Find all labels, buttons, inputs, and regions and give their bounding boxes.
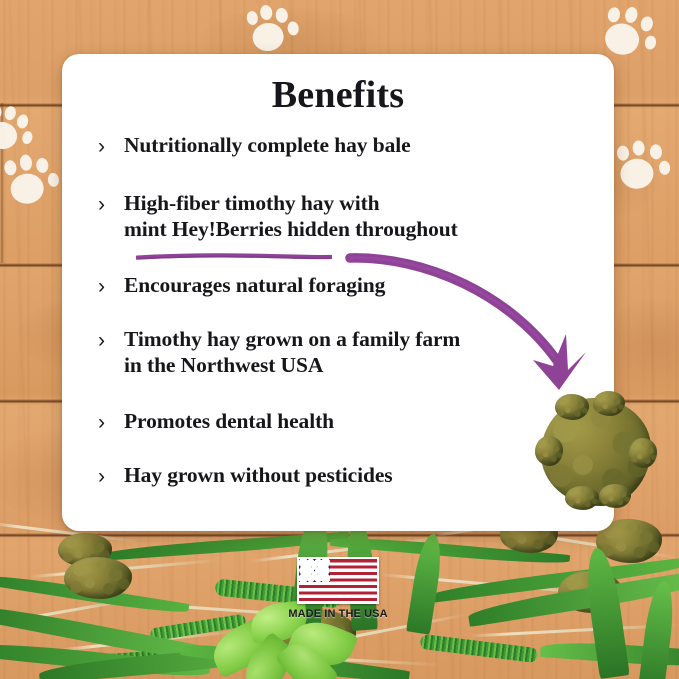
- paw-toe: [644, 35, 658, 51]
- timothy-seed-head: [420, 634, 539, 663]
- paw-toe: [607, 6, 622, 23]
- paw-toe: [624, 6, 639, 24]
- hay-treat-nugget: [593, 391, 625, 416]
- paw-pad: [9, 172, 45, 205]
- paw-toe: [0, 105, 3, 121]
- chevron-right-icon: ›: [98, 408, 124, 436]
- chevron-right-icon: ›: [98, 132, 124, 160]
- paw-toe: [246, 10, 259, 25]
- flag-stars: [299, 559, 330, 582]
- list-item: › Nutritionally complete hay bale: [98, 132, 411, 160]
- list-item-label: Promotes dental health: [124, 408, 334, 434]
- paw-toe: [649, 144, 662, 160]
- paw-toe: [616, 145, 629, 161]
- made-in-usa-badge: MADE IN THE USA: [288, 557, 388, 620]
- paw-toe: [275, 7, 289, 24]
- hay-treat-ball: [541, 398, 651, 506]
- list-item: › High-fiber timothy hay with mint Hey!B…: [98, 190, 458, 242]
- paw-print-icon: [243, 2, 308, 62]
- paw-print-icon: [1, 152, 64, 212]
- paw-toe: [21, 130, 34, 145]
- usa-flag-icon: [297, 557, 379, 604]
- list-item: › Promotes dental health: [98, 408, 334, 436]
- paw-toe: [36, 157, 50, 173]
- hay-treat-ball: [64, 557, 132, 599]
- hay-treat-nugget: [565, 486, 599, 510]
- list-item-label: Hay grown without pesticides: [124, 462, 393, 488]
- paw-toe: [16, 113, 30, 129]
- list-item-label: Nutritionally complete hay bale: [124, 132, 411, 158]
- flag-canton: [299, 559, 330, 582]
- paw-toe: [639, 15, 654, 32]
- hay-treat-nugget: [629, 438, 657, 468]
- paw-pad: [602, 20, 642, 57]
- chevron-right-icon: ›: [98, 190, 124, 218]
- list-item: › Hay grown without pesticides: [98, 462, 393, 490]
- paw-pad: [619, 158, 654, 190]
- paw-toe: [632, 140, 645, 156]
- paw-print-icon: [616, 138, 678, 196]
- chevron-right-icon: ›: [98, 462, 124, 490]
- paw-toe: [19, 154, 33, 171]
- paw-toe: [259, 4, 273, 21]
- paw-toe: [287, 21, 300, 36]
- paw-toe: [4, 160, 18, 176]
- paw-toe: [47, 172, 59, 187]
- hay-treat-nugget: [599, 484, 631, 508]
- paw-pad: [251, 21, 286, 53]
- list-item-label: High-fiber timothy hay with mint Hey!Ber…: [124, 190, 458, 242]
- made-in-usa-label: MADE IN THE USA: [288, 608, 388, 620]
- hay-treat-nugget: [535, 436, 563, 466]
- curved-arrow-icon: [330, 238, 620, 403]
- infographic-canvas: Benefits › Nutritionally complete hay ba…: [0, 0, 679, 679]
- page-title: Benefits: [62, 73, 614, 117]
- paw-toe: [659, 160, 671, 175]
- chevron-right-icon: ›: [98, 272, 124, 300]
- hay-treat-nugget: [555, 394, 589, 420]
- purple-underline-icon: [136, 253, 332, 260]
- chevron-right-icon: ›: [98, 326, 124, 354]
- paw-toe: [3, 105, 17, 121]
